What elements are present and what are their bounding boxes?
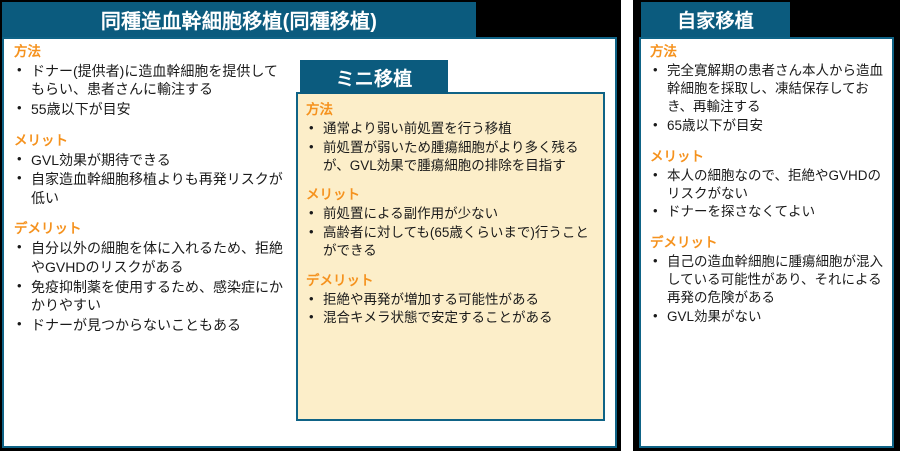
list-item: 55歳以下が目安 (14, 100, 286, 119)
bullet-list-method: ドナー(提供者)に造血幹細胞を提供してもらい、患者さんに輸注する 55歳以下が目… (14, 62, 286, 119)
bullet-list-merit: 本人の細胞なので、拒絶やGVHDのリスクがない ドナーを探さなくてよい (650, 167, 888, 222)
panel-allogeneic-content: 方法 ドナー(提供者)に造血幹細胞を提供してもらい、患者さんに輸注する 55歳以… (14, 44, 286, 335)
list-item: 自己の造血幹細胞に腫瘍細胞が混入している可能性があり、それによる再発の危険がある (650, 253, 888, 307)
bullet-list-demerit: 拒絶や再発が増加する可能性がある 混合キメラ状態で安定することがある (306, 291, 598, 328)
section-demerit: デメリット 拒絶や再発が増加する可能性がある 混合キメラ状態で安定することがある (306, 273, 598, 328)
list-item: 自分以外の細胞を体に入れるため、拒絶やGVHDのリスクがある (14, 239, 286, 276)
list-item: 通常より弱い前処置を行う移植 (306, 120, 598, 138)
section-merit: メリット GVL効果が期待できる 自家造血幹細胞移植よりも再発リスクが低い (14, 133, 286, 208)
bullet-list-method: 完全寛解期の患者さん本人から造血幹細胞を採取し、凍結保存しておき、再輸注する 6… (650, 62, 888, 135)
section-heading-demerit: デメリット (14, 221, 286, 238)
section-heading-merit: メリット (306, 187, 598, 204)
list-item: GVL効果が期待できる (14, 151, 286, 170)
section-heading-demerit: デメリット (306, 273, 598, 290)
list-item: 前処置が弱いため腫瘍細胞がより多く残るが、GVL効果で腫瘍細胞の排除を目指す (306, 139, 598, 175)
list-item: 高齢者に対しても(65歳くらいまで)行うことができる (306, 224, 598, 260)
list-item: 自家造血幹細胞移植よりも再発リスクが低い (14, 170, 286, 207)
diagram-stage: 同種造血幹細胞移植(同種移植) 方法 ドナー(提供者)に造血幹細胞を提供してもら… (0, 0, 900, 451)
section-heading-method: 方法 (14, 44, 286, 61)
section-heading-method: 方法 (306, 102, 598, 119)
section-heading-method: 方法 (650, 44, 888, 61)
panel-autologous-content: 方法 完全寛解期の患者さん本人から造血幹細胞を採取し、凍結保存しておき、再輸注す… (650, 44, 888, 327)
section-method: 方法 ドナー(提供者)に造血幹細胞を提供してもらい、患者さんに輸注する 55歳以… (14, 44, 286, 119)
list-item: 免疫抑制薬を使用するため、感染症にかかりやすい (14, 278, 286, 315)
section-demerit: デメリット 自己の造血幹細胞に腫瘍細胞が混入している可能性があり、それによる再発… (650, 235, 888, 326)
section-heading-merit: メリット (650, 149, 888, 166)
section-heading-demerit: デメリット (650, 235, 888, 252)
bullet-list-demerit: 自分以外の細胞を体に入れるため、拒絶やGVHDのリスクがある 免疫抑制薬を使用す… (14, 239, 286, 334)
panel-mini-content: 方法 通常より弱い前処置を行う移植 前処置が弱いため腫瘍細胞がより多く残るが、G… (306, 102, 598, 340)
list-item: 拒絶や再発が増加する可能性がある (306, 291, 598, 309)
section-merit: メリット 前処置による副作用が少ない 高齢者に対しても(65歳くらいまで)行うこ… (306, 187, 598, 259)
section-method: 方法 通常より弱い前処置を行う移植 前処置が弱いため腫瘍細胞がより多く残るが、G… (306, 102, 598, 174)
bullet-list-demerit: 自己の造血幹細胞に腫瘍細胞が混入している可能性があり、それによる再発の危険がある… (650, 253, 888, 326)
section-method: 方法 完全寛解期の患者さん本人から造血幹細胞を採取し、凍結保存しておき、再輸注す… (650, 44, 888, 135)
section-merit: メリット 本人の細胞なので、拒絶やGVHDのリスクがない ドナーを探さなくてよい (650, 149, 888, 222)
panel-autologous-title: 自家移植 (641, 2, 790, 37)
list-item: 完全寛解期の患者さん本人から造血幹細胞を採取し、凍結保存しておき、再輸注する (650, 62, 888, 116)
bullet-list-merit: GVL効果が期待できる 自家造血幹細胞移植よりも再発リスクが低い (14, 151, 286, 208)
list-item: 混合キメラ状態で安定することがある (306, 309, 598, 327)
panel-allogeneic-title: 同種造血幹細胞移植(同種移植) (2, 2, 476, 37)
panel-mini-title: ミニ移植 (300, 60, 448, 94)
section-demerit: デメリット 自分以外の細胞を体に入れるため、拒絶やGVHDのリスクがある 免疫抑… (14, 221, 286, 334)
bullet-list-merit: 前処置による副作用が少ない 高齢者に対しても(65歳くらいまで)行うことができる (306, 205, 598, 259)
list-item: 前処置による副作用が少ない (306, 205, 598, 223)
list-item: 65歳以下が目安 (650, 117, 888, 135)
list-item: ドナー(提供者)に造血幹細胞を提供してもらい、患者さんに輸注する (14, 62, 286, 99)
bullet-list-method: 通常より弱い前処置を行う移植 前処置が弱いため腫瘍細胞がより多く残るが、GVL効… (306, 120, 598, 174)
list-item: ドナーが見つからないこともある (14, 316, 286, 335)
list-item: ドナーを探さなくてよい (650, 203, 888, 221)
list-item: GVL効果がない (650, 308, 888, 326)
section-heading-merit: メリット (14, 133, 286, 150)
list-item: 本人の細胞なので、拒絶やGVHDのリスクがない (650, 167, 888, 203)
